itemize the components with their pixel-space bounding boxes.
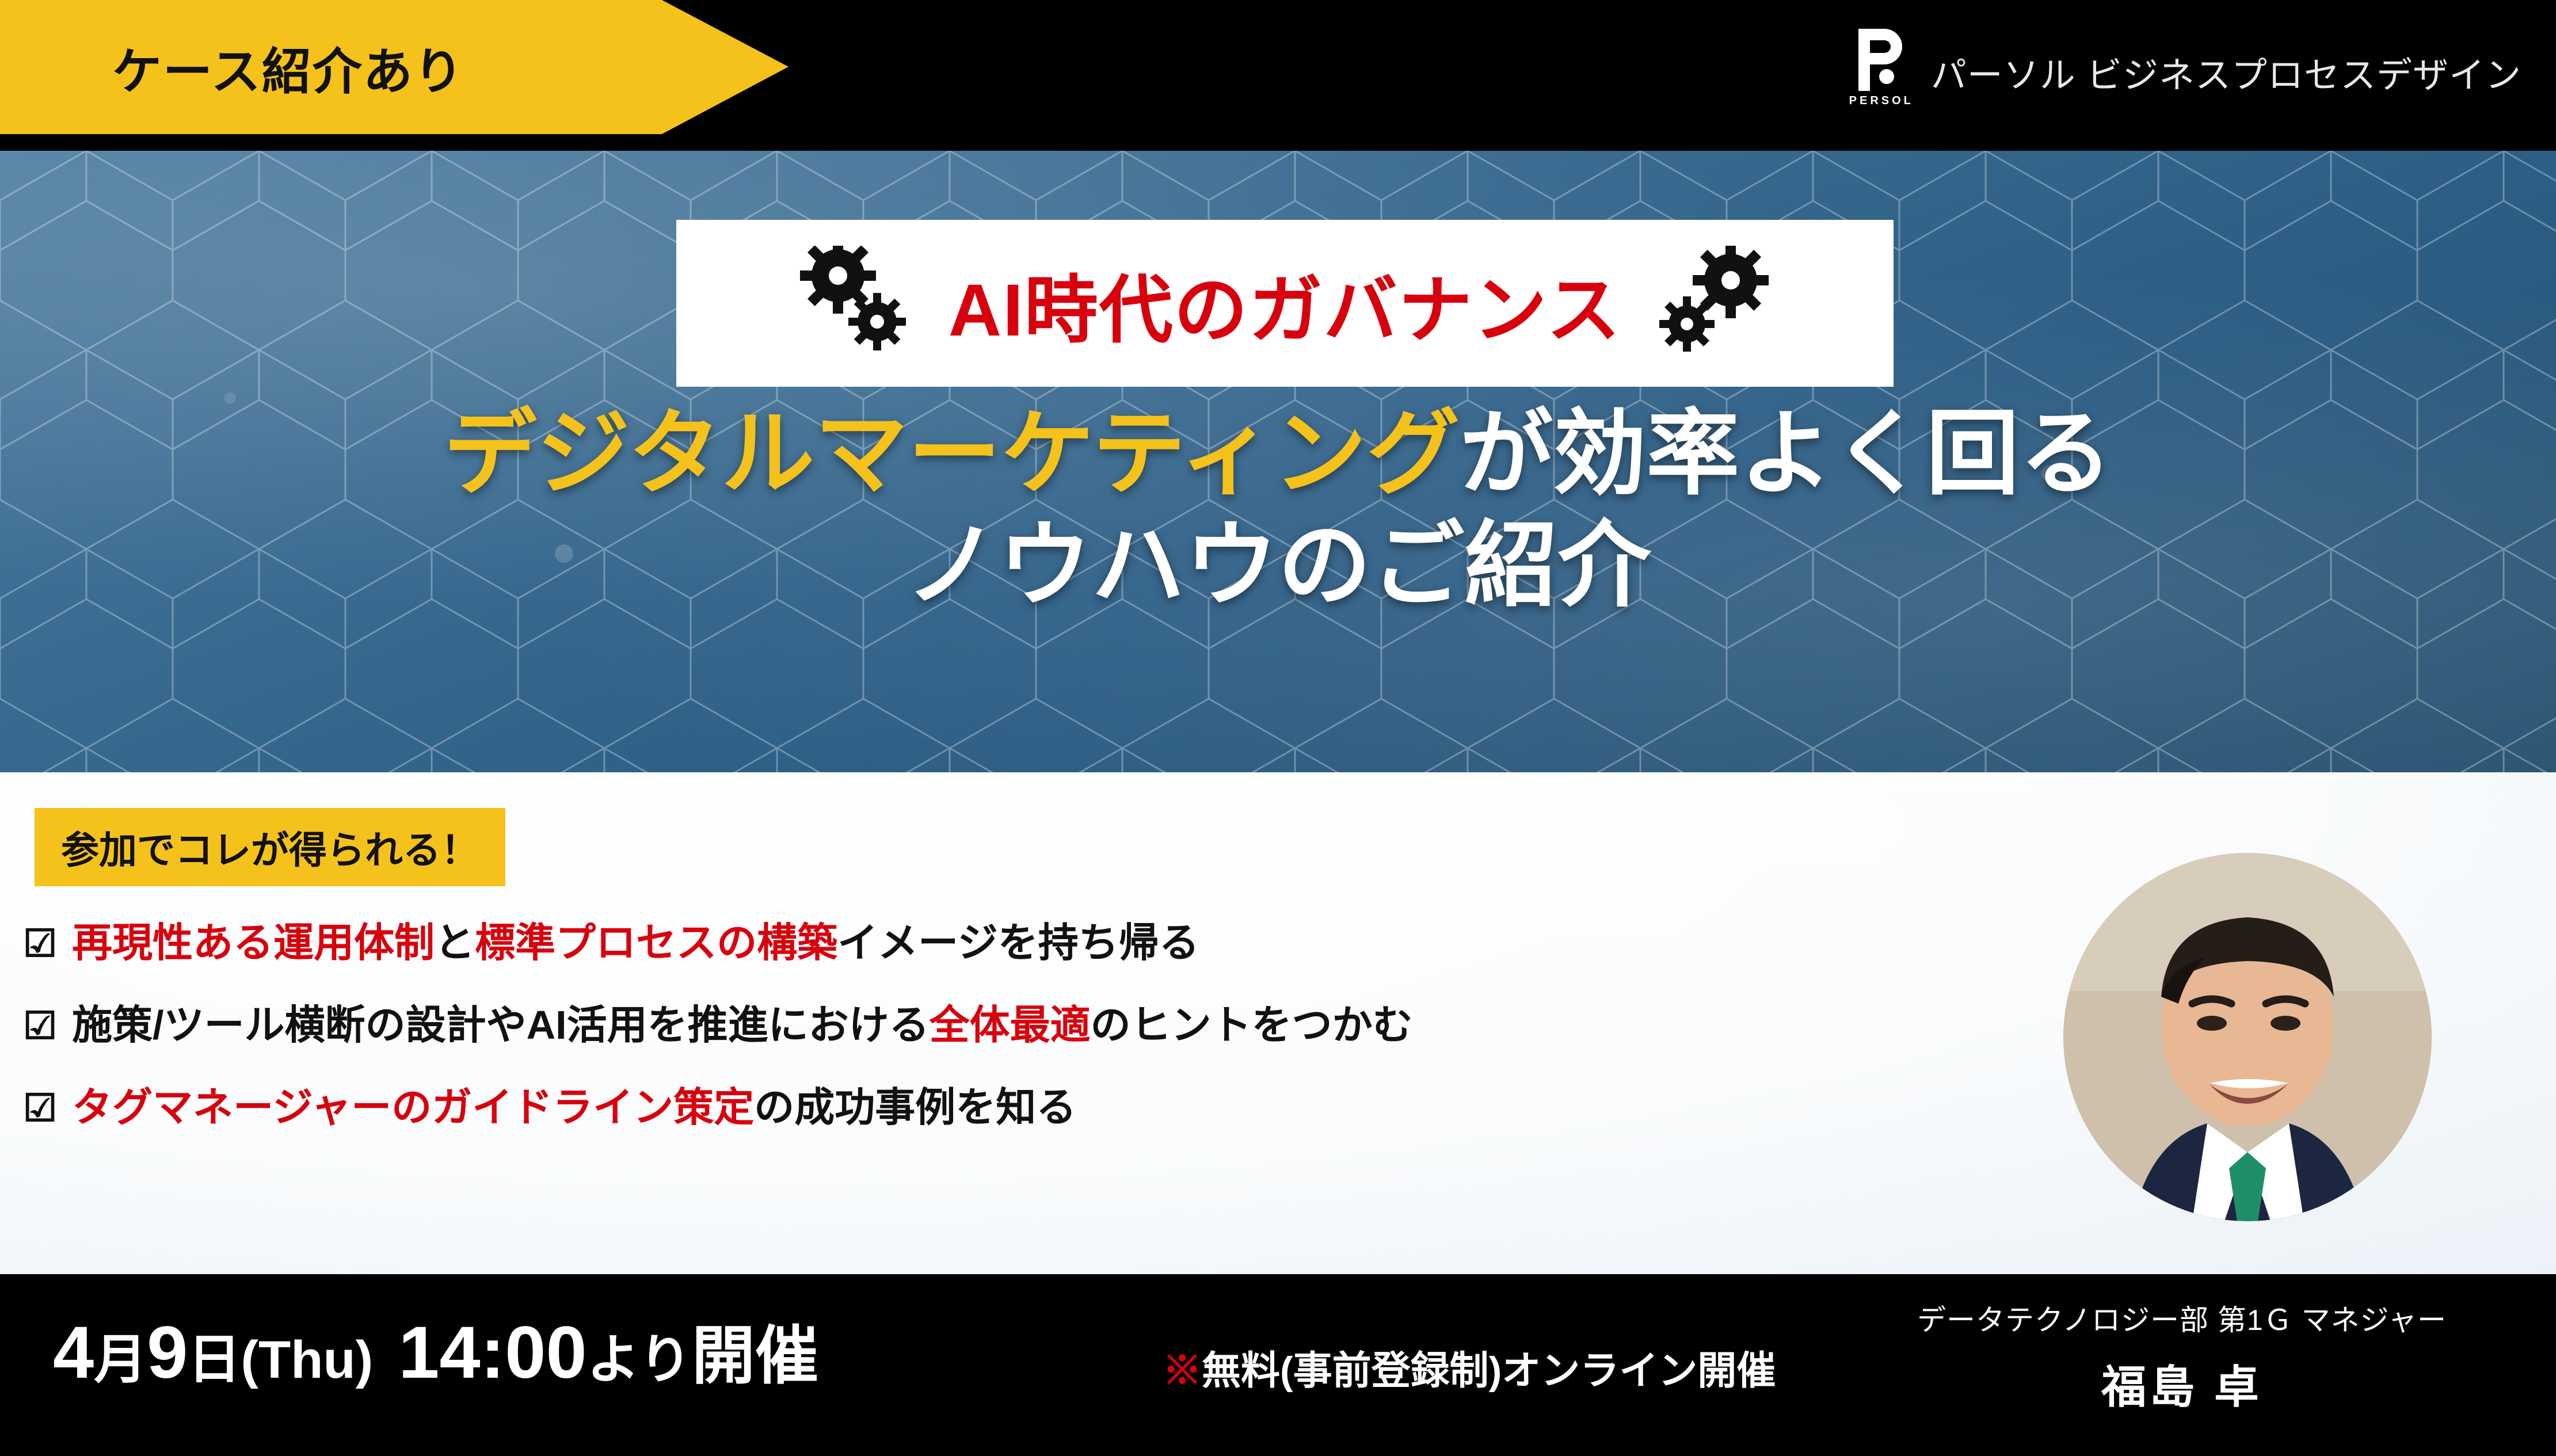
benefits-tag: 参加でコレが得られる！ bbox=[35, 808, 505, 886]
date-month-unit: 月 bbox=[94, 1317, 147, 1393]
persol-wordmark: PERSOL bbox=[1849, 94, 1914, 108]
webinar-poster: ケース紹介あり PERSOL パーソル ビジネスプロセスデザイン bbox=[0, 0, 2556, 1456]
list-item-text: 再現性ある運用体制と標準プロセスの構築イメージを持ち帰る bbox=[72, 910, 1199, 969]
hero-section: AI時代のガバナンス bbox=[0, 151, 2556, 772]
headline-line-1: デジタルマーケティングが効率よく回る bbox=[0, 398, 2556, 510]
checkbox-icon: ☑ bbox=[23, 1089, 57, 1127]
list-item-text: 施策/ツール横断の設計やAI活用を推進における全体最適のヒントをつかむ bbox=[72, 993, 1412, 1051]
date-day-of-week: (Thu) bbox=[241, 1330, 373, 1390]
persol-logo-icon: PERSOL bbox=[1852, 29, 1911, 115]
event-datetime: 4 月 9 日 (Thu) 14:00 より 開催 bbox=[53, 1304, 818, 1396]
speaker-name: 福島 卓 bbox=[1894, 1351, 2470, 1416]
brand-lockup: PERSOL パーソル ビジネスプロセスデザイン bbox=[1852, 29, 2521, 115]
ribbon-label: ケース紹介あり bbox=[112, 31, 464, 103]
event-open-label: 開催 bbox=[692, 1304, 818, 1396]
checkbox-icon: ☑ bbox=[23, 1007, 57, 1045]
gears-icon-left bbox=[793, 246, 925, 361]
event-note: ※無料(事前登録制)オンライン開催 bbox=[1163, 1339, 1776, 1396]
event-time-suffix: より bbox=[587, 1317, 692, 1393]
note-star-icon: ※ bbox=[1163, 1349, 1202, 1393]
list-item: ☑ 施策/ツール横断の設計やAI活用を推進における全体最適のヒントをつかむ bbox=[23, 993, 1934, 1051]
list-item-text: タグマネージャーのガイドライン策定の成功事例を知る bbox=[72, 1075, 1076, 1133]
benefits-section: 参加でコレが得られる！ ☑ 再現性ある運用体制と標準プロセスの構築イメージを持ち… bbox=[0, 772, 2556, 1274]
checkbox-icon: ☑ bbox=[23, 924, 57, 962]
date-day: 9 bbox=[147, 1310, 188, 1395]
list-item: ☑ タグマネージャーのガイドライン策定の成功事例を知る bbox=[23, 1075, 1934, 1133]
list-item: ☑ 再現性ある運用体制と標準プロセスの構築イメージを持ち帰る bbox=[23, 910, 1934, 969]
headline-rest: が効率よく回る bbox=[1460, 402, 2112, 506]
gears-icon-right bbox=[1644, 246, 1777, 361]
case-study-ribbon: ケース紹介あり bbox=[0, 0, 788, 134]
event-time: 14:00 bbox=[398, 1310, 586, 1395]
top-bar: ケース紹介あり PERSOL パーソル ビジネスプロセスデザイン bbox=[0, 0, 2556, 151]
badge-title: AI時代のガバナンス bbox=[948, 250, 1621, 357]
headline-accent: デジタルマーケティング bbox=[444, 402, 1460, 506]
headline-line-2: ノウハウのご紹介 bbox=[0, 510, 2556, 622]
brand-name: パーソル ビジネスプロセスデザイン bbox=[1931, 46, 2521, 98]
hero-headline: デジタルマーケティングが効率よく回る ノウハウのご紹介 bbox=[0, 398, 2556, 622]
speaker-info: データテクノロジー部 第1Ｇ マネジャー 福島 卓 bbox=[1894, 1297, 2470, 1416]
benefits-list: ☑ 再現性ある運用体制と標準プロセスの構築イメージを持ち帰る ☑ 施策/ツール横… bbox=[23, 910, 1934, 1157]
note-text: 無料(事前登録制)オンライン開催 bbox=[1202, 1349, 1776, 1393]
speaker-role: データテクノロジー部 第1Ｇ マネジャー bbox=[1894, 1297, 2470, 1339]
speaker-portrait bbox=[2063, 853, 2432, 1221]
date-day-unit: 日 bbox=[188, 1317, 241, 1393]
date-month: 4 bbox=[53, 1310, 94, 1395]
topic-badge: AI時代のガバナンス bbox=[676, 220, 1894, 387]
persol-glyph-icon bbox=[1854, 29, 1909, 91]
footer-bar: 4 月 9 日 (Thu) 14:00 より 開催 ※無料(事前登録制)オンライ… bbox=[0, 1274, 2556, 1456]
